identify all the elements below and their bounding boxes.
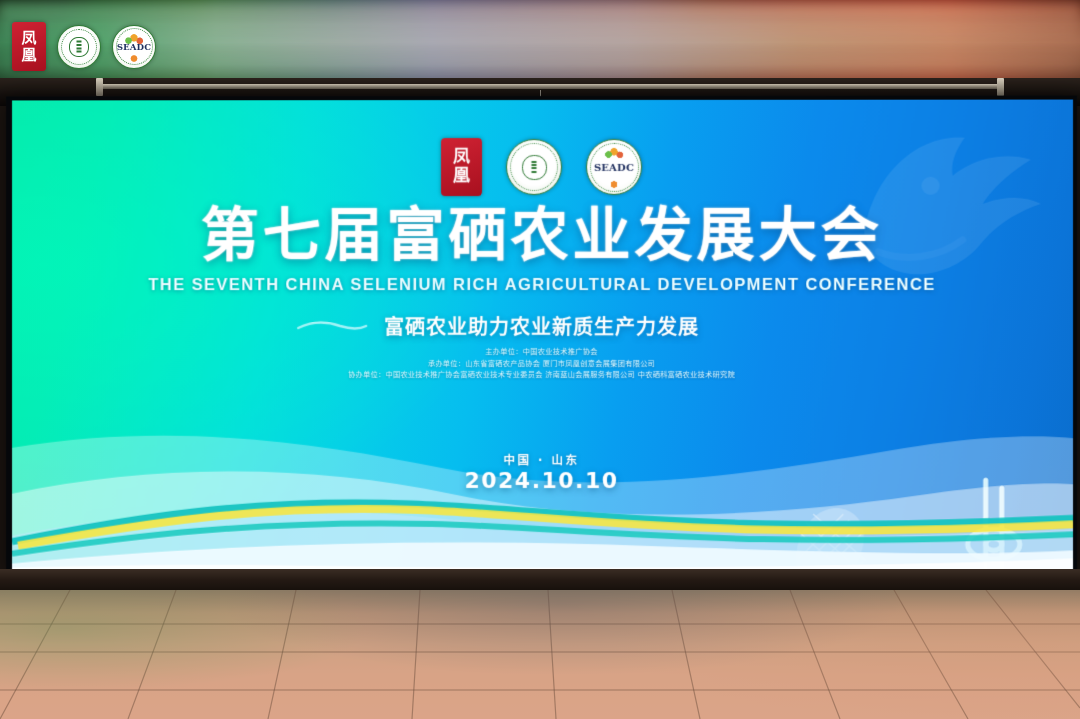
truss-end-bracket <box>997 78 1004 96</box>
wall-light-streak <box>0 16 1080 38</box>
fruit-icon <box>127 55 141 62</box>
phoenix-seal-char-top: 凤 <box>453 149 470 166</box>
wall-light-streak <box>0 52 1080 78</box>
floor-light-tint <box>0 590 1080 719</box>
wave-ribbons <box>12 420 1073 571</box>
led-screen-display: 凤 凰 SEADC 第七届富硒农业发展大会 THE SEVENTH CHINA … <box>12 100 1073 571</box>
organizer-line: 承办单位：山东省富硒农产品协会 厦门市凤凰创意会展集团有限公司 <box>12 358 1073 370</box>
conference-title-en: THE SEVENTH CHINA SELENIUM RICH AGRICULT… <box>12 276 1073 295</box>
organizer-line: 主办单位：中国农业技术推广协会 <box>12 346 1073 358</box>
plum-blossom-shape <box>522 154 547 179</box>
truss-end-bracket <box>96 78 103 96</box>
phoenix-seal-char-bottom: 凰 <box>453 168 470 185</box>
conference-date: 2024.10.10 <box>12 469 1073 495</box>
wall-banner-logos: 凤 凰 SEADC <box>12 22 156 71</box>
organizers-block: 主办单位：中国农业技术推广协会 承办单位：山东省富硒农产品协会 厦门市凤凰创意会… <box>12 346 1073 381</box>
organizer-line: 协办单位：中国农业技术推广协会富硒农业技术专业委员会 济南蓝山会展服务有限公司 … <box>12 369 1073 381</box>
fruit-icon <box>607 181 621 188</box>
seadc-emblem: SEADC <box>586 139 642 195</box>
led-screen-frame: 凤 凰 SEADC 第七届富硒农业发展大会 THE SEVENTH CHINA … <box>6 96 1077 574</box>
wave-rule-left-icon <box>296 320 368 332</box>
china-agri-tech-emblem <box>506 139 562 195</box>
phoenix-seal-logo: 凤 凰 <box>12 22 46 71</box>
fruit-icon <box>603 148 625 159</box>
conference-hall-scene: 凤 凰 SEADC <box>0 0 1080 719</box>
plum-blossom-shape <box>69 37 89 57</box>
conference-title-cn: 第七届富硒农业发展大会 <box>12 206 1073 264</box>
seadc-label: SEADC <box>594 163 634 174</box>
phoenix-seal-char-top: 凤 <box>21 31 36 46</box>
tiled-floor <box>0 590 1080 719</box>
lighting-truss-bar <box>96 84 1004 89</box>
china-agri-tech-emblem <box>57 25 101 69</box>
conference-location: 中国 · 山东 <box>12 452 1073 468</box>
wheat-icon <box>77 40 82 53</box>
seadc-label: SEADC <box>117 43 151 53</box>
phoenix-seal-char-bottom: 凰 <box>21 48 36 63</box>
wheat-icon <box>532 161 537 174</box>
phoenix-seal-logo: 凤 凰 <box>441 138 482 196</box>
conference-tagline: 富硒农业助力农业新质生产力发展 <box>384 311 699 340</box>
screen-logo-row: 凤 凰 SEADC <box>12 138 1073 197</box>
seadc-emblem: SEADC <box>112 25 156 69</box>
tagline-row: 富硒农业助力农业新质生产力发展 <box>12 311 1073 340</box>
